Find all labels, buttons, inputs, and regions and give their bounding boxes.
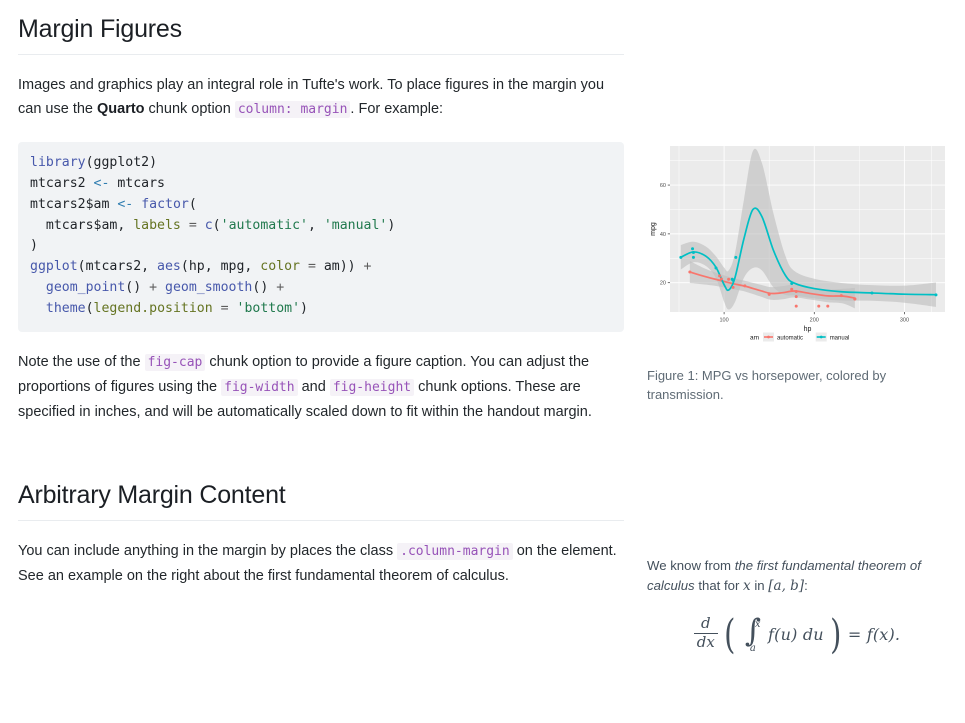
note-text: that for [695, 578, 743, 593]
code-token: ( [189, 197, 197, 212]
note-text: : [804, 578, 808, 593]
data-point-manual [934, 293, 937, 296]
data-point-manual [870, 291, 873, 294]
data-point-automatic [817, 305, 820, 308]
code-token: () [125, 280, 149, 295]
code-token: ) [30, 238, 38, 253]
data-point-manual [691, 247, 694, 250]
code-token [133, 197, 141, 212]
code-line: geom_point() + geom_smooth() + [30, 280, 284, 295]
code-line: mtcars2$am <- factor( [30, 197, 197, 212]
chart-svg: 100200300204060hpmpgamautomaticmanual [647, 140, 947, 350]
code-token: aes [157, 259, 181, 274]
code-token: legend.position [94, 301, 213, 316]
margin-column: 100200300204060hpmpgamautomaticmanual Fi… [647, 0, 947, 404]
margin-note-calculus: We know from the first fundamental theor… [647, 556, 947, 652]
inline-code-column-margin: column: margin [235, 101, 351, 118]
math-interval: [a, b] [768, 578, 804, 594]
code-token: geom_smooth [165, 280, 252, 295]
legend-key-point-automatic [767, 336, 770, 339]
code-token [300, 259, 308, 274]
code-token: = [221, 301, 229, 316]
data-point-automatic [795, 305, 798, 308]
tick-label-x: 200 [810, 318, 819, 324]
data-point-automatic [727, 278, 730, 281]
code-token: <- [94, 176, 110, 191]
paragraph-text: chunk option [145, 101, 235, 117]
code-token [197, 218, 205, 233]
data-point-automatic [795, 295, 798, 298]
data-point-automatic [826, 305, 829, 308]
code-token: mtcars$am, [30, 218, 133, 233]
code-token [181, 218, 189, 233]
note-text: in [751, 578, 769, 593]
code-token: ) [300, 301, 308, 316]
axis-label-y: mpg [650, 222, 657, 236]
legend-key-point-manual [820, 336, 823, 339]
code-token: geom_point [46, 280, 125, 295]
data-point-automatic [840, 294, 843, 297]
code-line: mtcars$am, labels = c('automatic', 'manu… [30, 218, 395, 233]
code-token: mtcars2 [30, 176, 94, 191]
bold-quarto: Quarto [97, 101, 145, 117]
axis-label-x: hp [804, 326, 812, 333]
code-token: + [149, 280, 157, 295]
page-title-arbitrary-margin-content: Arbitrary Margin Content [18, 466, 624, 521]
integrand: f(u) du [768, 625, 824, 645]
data-point-automatic [718, 274, 721, 277]
main-content-column: Margin Figures Images and graphics play … [18, 0, 624, 588]
inline-code-column-margin-class: .column-margin [397, 543, 513, 560]
code-line: theme(legend.position = 'bottom') [30, 301, 308, 316]
code-token [229, 301, 237, 316]
code-token: labels [133, 218, 181, 233]
code-token: <- [117, 197, 133, 212]
data-point-manual [734, 256, 737, 259]
code-line: ) [30, 238, 38, 253]
code-line: library(ggplot2) [30, 155, 157, 170]
derivative-fraction: d dx [694, 616, 718, 651]
paragraph-arbitrary-margin: You can include anything in the margin b… [18, 539, 624, 588]
integral-lower-limit: a [750, 639, 756, 659]
paragraph-fig-options: Note the use of the fig-cap chunk option… [18, 350, 624, 424]
code-token: c [205, 218, 213, 233]
code-token: am)) [316, 259, 364, 274]
data-point-manual [692, 251, 695, 254]
note-text: We know from [647, 558, 735, 573]
code-token: 'automatic' [221, 218, 308, 233]
code-token: mtcars [109, 176, 165, 191]
tick-label-y: 40 [660, 232, 666, 238]
code-token: theme [46, 301, 86, 316]
integral-symbol-group: ∫ x a [742, 617, 764, 651]
inline-code-fig-cap: fig-cap [145, 354, 206, 371]
code-token: color [260, 259, 300, 274]
data-point-manual [732, 279, 735, 282]
fraction-denominator: dx [694, 633, 718, 651]
left-paren: ( [724, 619, 735, 651]
code-token: ) [387, 218, 395, 233]
inline-code-fig-width: fig-width [221, 379, 297, 396]
math-var-x: x [743, 578, 751, 594]
code-block-r[interactable]: library(ggplot2) mtcars2 <- mtcars mtcar… [18, 142, 624, 331]
integral-upper-limit: x [755, 615, 761, 635]
tick-label-y: 60 [660, 183, 666, 189]
code-token: mtcars2$am [30, 197, 117, 212]
ggplot-chart-mpg-vs-hp: 100200300204060hpmpgamautomaticmanual [647, 140, 947, 350]
code-line: ggplot(mtcars2, aes(hp, mpg, color = am)… [30, 259, 371, 274]
fraction-numerator: d [694, 616, 718, 633]
code-line: mtcars2 <- mtcars [30, 176, 165, 191]
code-token: , [308, 218, 324, 233]
data-point-automatic [790, 288, 793, 291]
paragraph-text: You can include anything in the margin b… [18, 543, 397, 559]
code-token: factor [141, 197, 189, 212]
code-token: + [364, 259, 372, 274]
data-point-manual [679, 256, 682, 259]
equation-result: = f(x). [848, 625, 900, 645]
code-token: 'bottom' [237, 301, 301, 316]
code-token [30, 301, 46, 316]
math-equation-ftc: d dx ( ∫ x a f(u) du ) = f(x). [647, 617, 947, 652]
inline-code-fig-height: fig-height [330, 379, 414, 396]
tick-label-y: 20 [660, 281, 666, 287]
page-title-margin-figures: Margin Figures [18, 0, 624, 55]
code-token: (mtcars2, [78, 259, 157, 274]
code-token [30, 280, 46, 295]
code-token: ggplot [30, 259, 78, 274]
code-token: = [308, 259, 316, 274]
data-point-manual [790, 282, 793, 285]
data-point-automatic [732, 286, 735, 289]
code-token [213, 301, 221, 316]
figure-caption: Figure 1: MPG vs horsepower, colored by … [647, 366, 943, 404]
code-token: (ggplot2) [86, 155, 157, 170]
code-token [157, 280, 165, 295]
tick-label-x: 100 [720, 318, 729, 324]
data-point-automatic [688, 270, 691, 273]
tick-label-x: 300 [900, 318, 909, 324]
paragraph-text: and [298, 379, 330, 395]
data-point-automatic [720, 278, 723, 281]
code-token: ( [86, 301, 94, 316]
legend-label-manual: manual [830, 335, 850, 341]
code-token: ( [213, 218, 221, 233]
data-point-automatic [795, 290, 798, 293]
code-token: + [276, 280, 284, 295]
paragraph-text: Note the use of the [18, 354, 145, 370]
paragraph-text: . For example: [350, 101, 443, 117]
code-token: = [189, 218, 197, 233]
data-point-automatic [743, 284, 746, 287]
document-page: Margin Figures Images and graphics play … [0, 0, 965, 723]
code-token: library [30, 155, 86, 170]
code-token: 'manual' [324, 218, 388, 233]
figure-container: 100200300204060hpmpgamautomaticmanual Fi… [647, 140, 947, 404]
right-paren: ) [830, 619, 841, 651]
legend-label-automatic: automatic [777, 335, 803, 341]
data-point-automatic [768, 293, 771, 296]
data-point-manual [714, 267, 717, 270]
code-token: (hp, mpg, [181, 259, 260, 274]
margin-note-text: We know from the first fundamental theor… [647, 556, 947, 596]
data-point-manual [692, 256, 695, 259]
legend-title: am [750, 335, 759, 342]
paragraph-margin-figures-intro: Images and graphics play an integral rol… [18, 73, 624, 122]
chart-legend: amautomaticmanual [750, 333, 849, 342]
code-token: () [252, 280, 276, 295]
data-point-automatic [853, 298, 856, 301]
